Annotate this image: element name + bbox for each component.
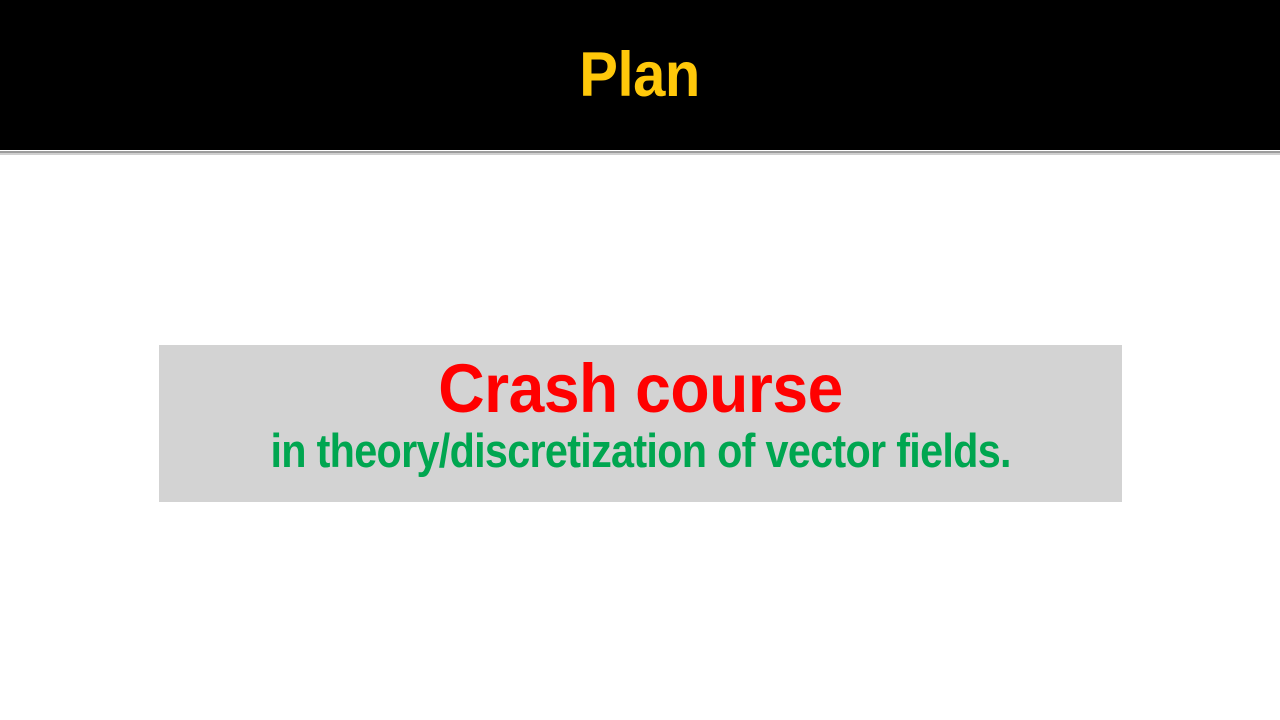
callout-box: Crash course in theory/discretization of… [159, 345, 1122, 502]
divider-rule-light [0, 153, 1280, 155]
slide-header-bar: Plan [0, 0, 1280, 150]
page-title: Plan [580, 44, 701, 107]
callout-secondary-text: in theory/discretization of vector field… [270, 426, 1010, 475]
callout-primary-text: Crash course [438, 354, 843, 424]
presentation-slide: Plan Crash course in theory/discretizati… [0, 0, 1280, 720]
slide-content-area: Crash course in theory/discretization of… [0, 156, 1280, 720]
